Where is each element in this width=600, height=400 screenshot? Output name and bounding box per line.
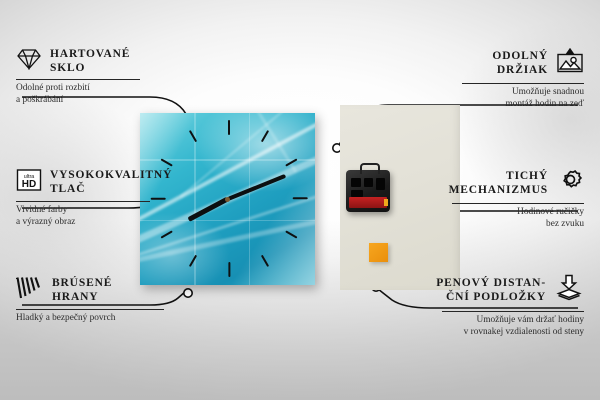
feature-hardened-glass[interactable]: HARTOVANÉ SKLO Odolné proti rozbití a po… <box>16 48 166 106</box>
feature-desc-line1: Umožňuje snadnou <box>512 87 584 97</box>
feature-title-line2: SKLO <box>50 62 85 74</box>
feature-divider <box>16 201 150 202</box>
battery <box>349 197 387 208</box>
feature-title-line2: MECHANIZMUS <box>449 184 548 196</box>
feature-durable-hanger[interactable]: ODOLNÝ DRŽIAK Umožňuje snadnou montáž ho… <box>434 48 584 110</box>
feature-title-line1: PENOVÝ DISTAN- <box>436 277 546 289</box>
feature-title-line2: TLAČ <box>50 183 85 195</box>
feature-desc-line1: Vividné farby <box>16 205 67 215</box>
feature-desc-line1: Hodinové ručičky <box>517 207 584 217</box>
feature-title-line1: HARTOVANÉ <box>50 48 130 60</box>
ultra-hd-icon: ultra HD <box>16 168 42 197</box>
feature-desc-line2: montáž hodin na zeď <box>505 99 584 109</box>
brushed-edges-icon <box>16 276 44 305</box>
hotspot-dot-left-3 <box>184 289 192 297</box>
gear-icon <box>556 168 584 199</box>
diamond-icon <box>16 48 42 75</box>
feature-title-line2: DRŽIAK <box>497 64 548 76</box>
clock-minute-hand <box>227 174 286 201</box>
feature-divider <box>16 79 140 80</box>
feature-divider <box>452 203 584 204</box>
feature-desc-line2: a poškrábání <box>16 95 63 105</box>
feature-title-line2: HRANY <box>52 291 98 303</box>
feature-polished-edges[interactable]: BRÚSENÉ HRANY Hladký a bezpečný povrch <box>16 276 181 325</box>
feature-title-line1: TICHÝ <box>506 170 548 182</box>
feature-divider <box>462 83 584 84</box>
feature-silent-mechanism[interactable]: TICHÝ MECHANIZMUS Hodinové ručičky bez z… <box>424 168 584 230</box>
feature-desc-line2: v rovnakej vzdialenosti od steny <box>464 327 584 337</box>
feature-high-quality-print[interactable]: ultra HD VYSOKOKVALITNÝ TLAČ Vividné far… <box>16 168 176 228</box>
product-photo <box>140 105 460 290</box>
feature-title-line1: VYSOKOKVALITNÝ <box>50 169 172 181</box>
mechanism-hook <box>360 163 380 174</box>
foam-spacer-icon <box>554 274 584 307</box>
feature-desc-line1: Umožňuje vám držať hodiny <box>477 315 585 325</box>
feature-foam-spacers[interactable]: PENOVÝ DISTAN- ČNÍ PODLOŽKY Umožňuje vám… <box>412 274 584 338</box>
clock-center-pin <box>225 197 230 202</box>
picture-hanger-icon <box>556 48 584 79</box>
ultra-hd-icon-main: HD <box>22 179 36 190</box>
feature-title-line1: BRÚSENÉ <box>52 277 112 289</box>
feature-desc-line2: bez zvuku <box>546 219 584 229</box>
product-infographic: HARTOVANÉ SKLO Odolné proti rozbití a po… <box>0 0 600 400</box>
clock-mechanism <box>346 170 390 212</box>
feature-title-line1: ODOLNÝ <box>492 50 548 62</box>
feature-title-line2: ČNÍ PODLOŽKY <box>446 291 546 303</box>
feature-divider <box>16 309 164 310</box>
feature-desc-line1: Hladký a bezpečný povrch <box>16 313 115 323</box>
feature-desc-line1: Odolné proti rozbití <box>16 83 90 93</box>
feature-divider <box>442 311 584 312</box>
feature-desc-line2: a výrazný obraz <box>16 217 75 227</box>
foam-spacer-pad <box>369 243 388 262</box>
